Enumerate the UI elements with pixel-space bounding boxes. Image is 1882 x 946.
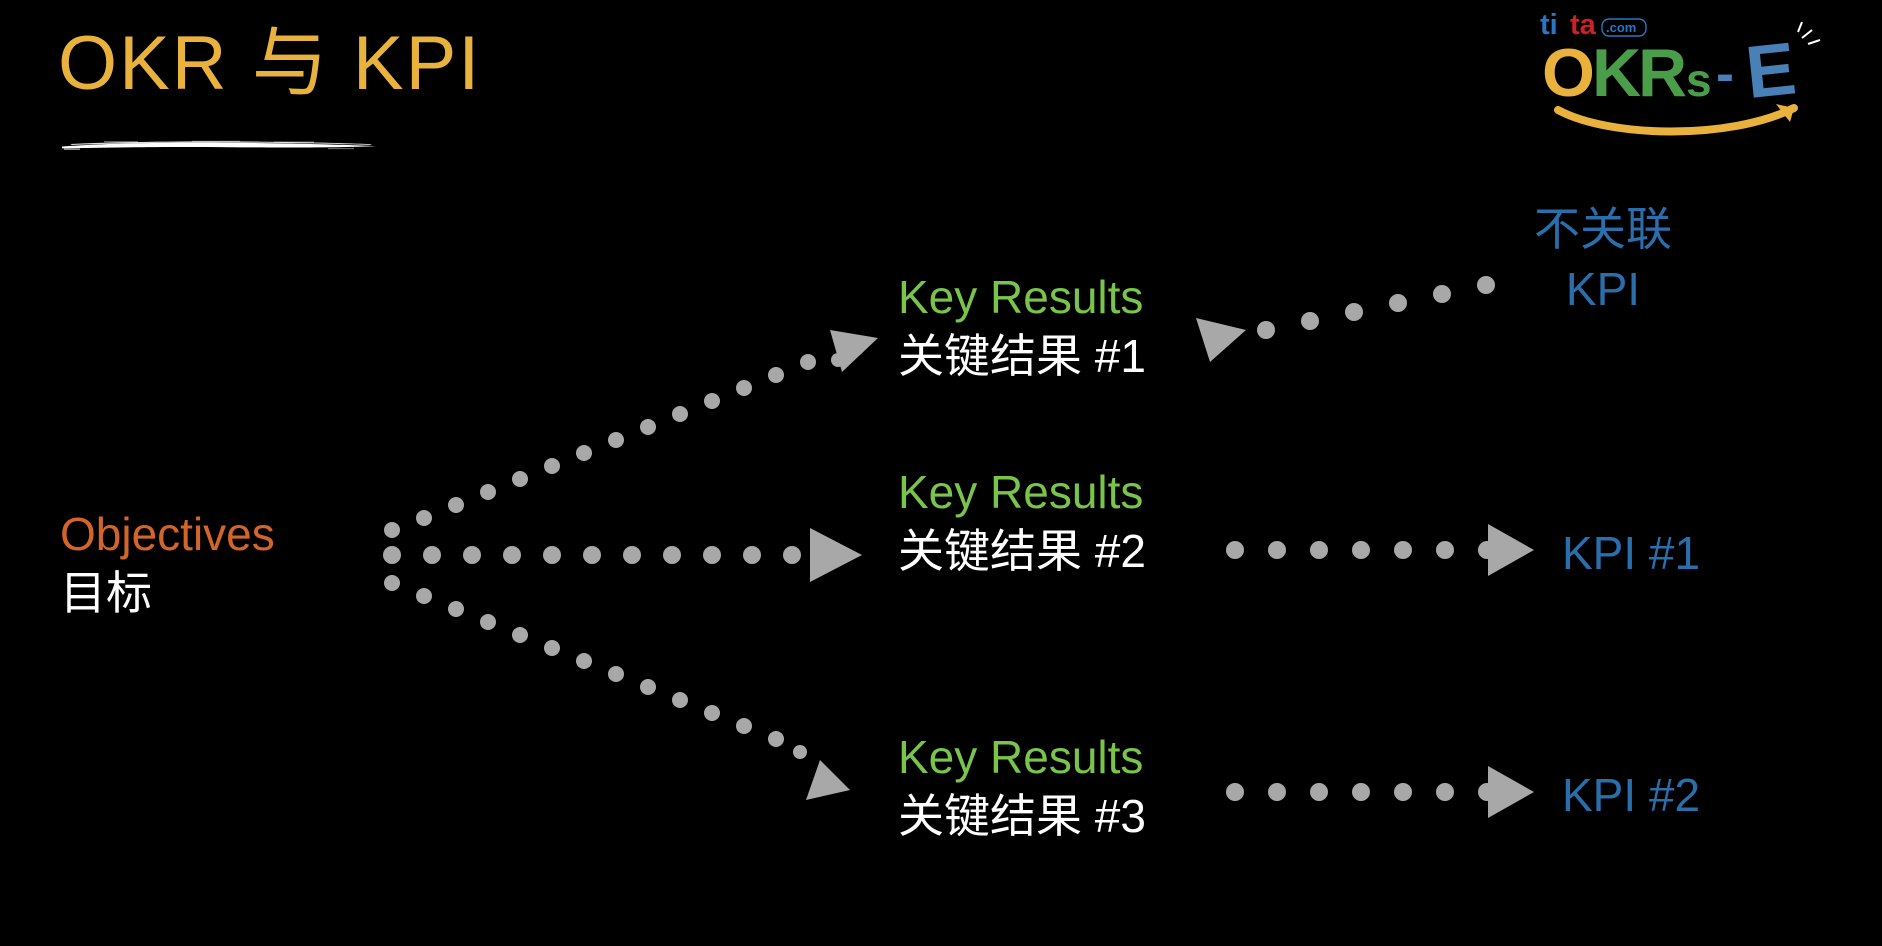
logo-sparkle-icon [1798, 22, 1820, 44]
node-key-results-2-cn: 关键结果 #2 [898, 522, 1146, 582]
title-underline-brush [60, 136, 378, 152]
node-key-results-3[interactable]: Key Results 关键结果 #3 [898, 728, 1146, 847]
node-key-results-1[interactable]: Key Results 关键结果 #1 [898, 268, 1146, 387]
page-title: OKR 与 KPI [58, 24, 481, 104]
logo-wordmark: O K R s - E [1542, 26, 1800, 114]
node-kpi-2[interactable]: KPI #2 [1562, 766, 1700, 826]
logo-letter-O: O [1542, 35, 1595, 111]
connector-kr2-to-kpi1 [1226, 524, 1534, 576]
connector-kr3-to-kpi2 [1226, 766, 1534, 818]
node-key-results-1-en: Key Results [898, 268, 1146, 327]
node-kpi-1-label: KPI #1 [1562, 524, 1700, 584]
node-key-results-3-en: Key Results [898, 728, 1146, 787]
node-unlinked-kpi-line1: 不关联 [1498, 200, 1708, 260]
node-objectives[interactable]: Objectives 目标 [60, 505, 275, 624]
node-kpi-1[interactable]: KPI #1 [1562, 524, 1700, 584]
logo-letter-dash: - [1716, 44, 1734, 104]
node-key-results-2-en: Key Results [898, 463, 1146, 522]
node-unlinked-kpi[interactable]: 不关联 KPI [1498, 200, 1708, 320]
brand-logo: ti ta .com O K R s - E [1540, 10, 1840, 136]
node-key-results-1-cn: 关键结果 #1 [898, 327, 1146, 387]
connector-objective-to-kr2 [383, 528, 862, 582]
logo-letter-E: E [1742, 26, 1800, 114]
connector-objective-to-kr1 [384, 330, 878, 538]
node-objectives-en: Objectives [60, 505, 275, 564]
logo-tld-badge: .com [1602, 19, 1646, 36]
node-key-results-3-cn: 关键结果 #3 [898, 787, 1146, 847]
node-key-results-2[interactable]: Key Results 关键结果 #2 [898, 463, 1146, 582]
logo-letter-s: s [1686, 54, 1712, 106]
node-kpi-2-label: KPI #2 [1562, 766, 1700, 826]
connector-unlinked-kpi-to-kr1 [1196, 276, 1495, 362]
slide-canvas: OKR 与 KPI ti ta .com O K R s - E [0, 0, 1882, 946]
logo-letter-R: R [1638, 35, 1687, 111]
logo-letter-K: K [1592, 35, 1641, 111]
connector-objective-to-kr3 [384, 575, 850, 800]
node-unlinked-kpi-line2: KPI [1498, 260, 1708, 320]
logo-tld-text: .com [1606, 20, 1636, 35]
title-block: OKR 与 KPI [58, 24, 481, 104]
node-objectives-cn: 目标 [60, 564, 275, 624]
